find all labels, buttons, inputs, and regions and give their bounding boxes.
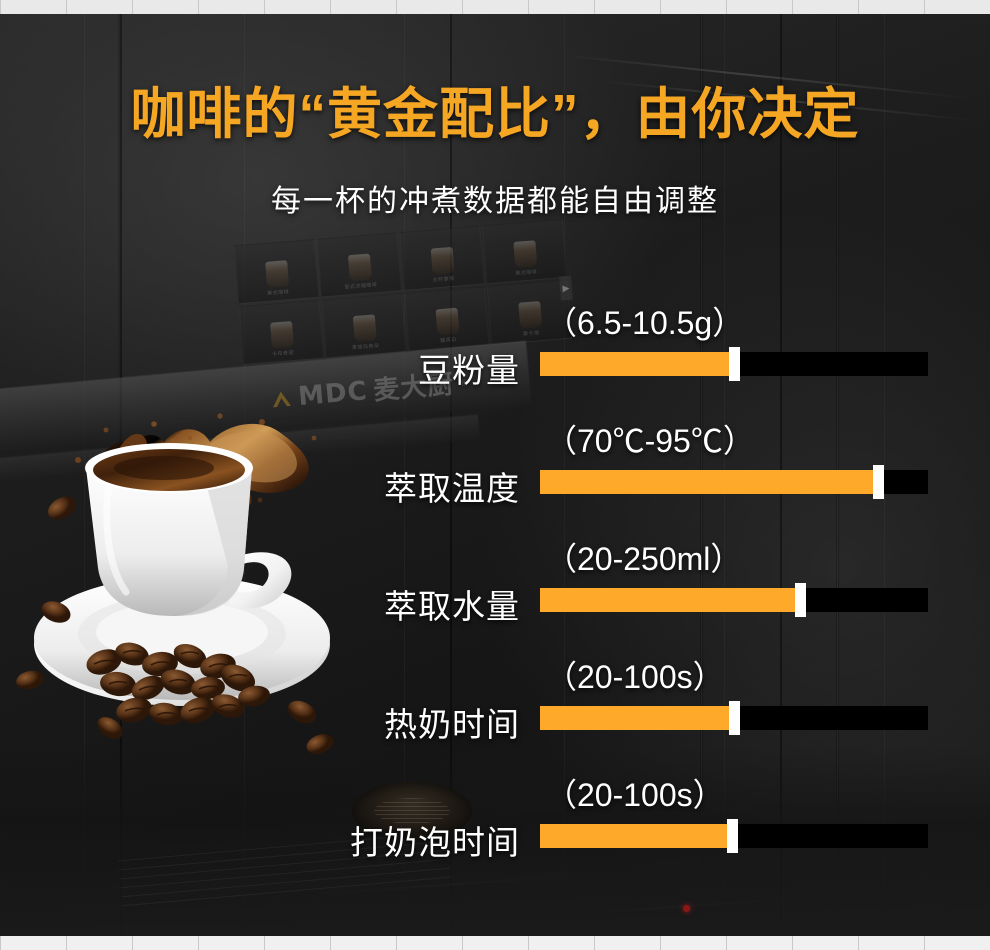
page-title: 咖啡的“黄金配比”，由你决定 [0, 84, 990, 145]
cup-icon [265, 260, 289, 288]
slider-range-label: （20-100s） [545, 770, 725, 816]
bottom-edge-strip [0, 936, 990, 950]
drink-tile: 意式浓缩咖啡 [316, 232, 401, 297]
page-subtitle: 每一杯的冲煮数据都能自由调整 [0, 176, 990, 220]
top-edge-strip [0, 0, 990, 14]
slider-range-label: （20-100s） [545, 652, 725, 698]
slider-knob[interactable] [727, 819, 738, 853]
slider-fill [540, 824, 728, 848]
slider-track-water-volume[interactable] [540, 588, 928, 612]
slider-name-label: 豆粉量 [418, 344, 520, 392]
slider-track-bean-dose[interactable] [540, 352, 928, 376]
slider-name-label: 萃取温度 [384, 462, 520, 510]
slider-fill [540, 588, 796, 612]
parameter-slider-list: （6.5-10.5g） 豆粉量 （70℃-95℃） 萃取温度 （20-250ml… [0, 296, 990, 886]
slider-track-milk-heating-time[interactable] [540, 706, 928, 730]
top-edge-ticks [0, 0, 990, 14]
slider-row-water-volume: （20-250ml） 萃取水量 [0, 532, 990, 650]
slider-track-milk-froth-time[interactable] [540, 824, 928, 848]
slider-knob[interactable] [795, 583, 806, 617]
drink-tile: 美式咖啡 [234, 239, 319, 304]
drink-tile-label: 大杯拿铁 [432, 275, 455, 284]
power-led-icon [683, 905, 690, 912]
drink-tile-label: 美式咖啡 [515, 268, 538, 277]
slider-range-label: （70℃-95℃） [545, 416, 755, 462]
drink-tile: 大杯拿铁 [399, 226, 484, 291]
promo-page: 美式咖啡 意式浓缩咖啡 大杯拿铁 美式咖啡 卡布奇诺 拿铁玛奇朵 [0, 0, 990, 950]
slider-knob[interactable] [873, 465, 884, 499]
slider-row-bean-dose: （6.5-10.5g） 豆粉量 [0, 296, 990, 414]
slider-name-label: 热奶时间 [384, 698, 520, 746]
slider-knob[interactable] [729, 347, 740, 381]
slider-knob[interactable] [729, 701, 740, 735]
slider-range-label: （20-250ml） [545, 534, 742, 580]
slider-fill [540, 352, 730, 376]
slider-row-brew-temperature: （70℃-95℃） 萃取温度 [0, 414, 990, 532]
slider-name-label: 打奶泡时间 [350, 816, 520, 864]
cup-icon [430, 247, 454, 275]
slider-fill [540, 706, 730, 730]
slider-row-milk-froth-time: （20-100s） 打奶泡时间 [0, 768, 990, 886]
cup-icon [347, 254, 371, 282]
cup-icon [513, 240, 537, 268]
slider-fill [540, 470, 874, 494]
slider-row-milk-heating-time: （20-100s） 热奶时间 [0, 650, 990, 768]
slider-name-label: 萃取水量 [384, 580, 520, 628]
drink-tile: 美式咖啡 [482, 219, 567, 284]
slider-track-brew-temperature[interactable] [540, 470, 928, 494]
bottom-edge-ticks [0, 936, 990, 950]
slider-range-label: （6.5-10.5g） [545, 298, 744, 344]
drink-tile-label: 意式浓缩咖啡 [344, 281, 377, 291]
